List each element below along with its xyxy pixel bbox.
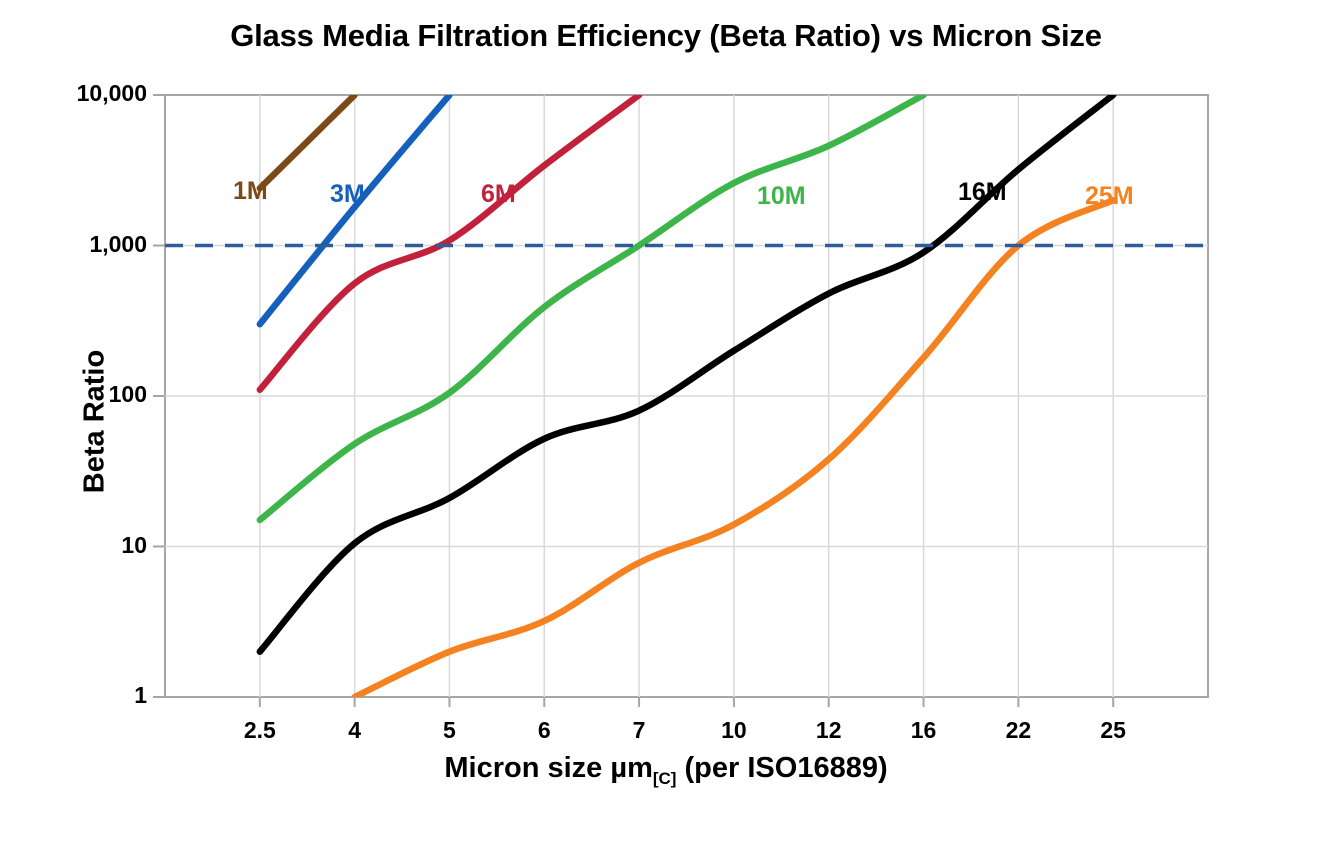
series-label-6m: 6M — [481, 180, 516, 209]
y-axis-ticks — [153, 95, 165, 697]
y-tick-label: 1 — [27, 682, 147, 709]
x-axis-ticks — [260, 697, 1113, 707]
x-axis-title-subscript: [C] — [653, 769, 677, 788]
y-tick-label: 1,000 — [27, 231, 147, 258]
series-label-25m: 25M — [1085, 182, 1134, 211]
x-tick-label: 2.5 — [215, 717, 305, 744]
series-label-10m: 10M — [757, 182, 806, 211]
x-tick-label: 12 — [784, 717, 874, 744]
x-axis-title: Micron size µm[C] (per ISO16889) — [0, 752, 1332, 789]
x-axis-title-tail: (per ISO16889) — [676, 752, 887, 784]
x-tick-label: 4 — [310, 717, 400, 744]
x-tick-label: 5 — [404, 717, 494, 744]
x-tick-label: 16 — [879, 717, 969, 744]
x-tick-label: 7 — [594, 717, 684, 744]
series-label-3m: 3M — [330, 180, 365, 209]
x-tick-label: 22 — [973, 717, 1063, 744]
y-axis-title-text: Beta Ratio — [79, 350, 111, 493]
x-tick-label: 6 — [499, 717, 589, 744]
x-tick-label: 25 — [1068, 717, 1158, 744]
y-tick-label: 10,000 — [27, 80, 147, 107]
series-label-16m: 16M — [958, 178, 1007, 207]
x-axis-title-main: Micron size µm — [444, 752, 652, 784]
series-label-1m: 1M — [233, 177, 268, 206]
y-axis-title: Beta Ratio — [79, 292, 112, 552]
x-tick-label: 10 — [689, 717, 779, 744]
plot-area — [0, 0, 1332, 842]
chart-root: Glass Media Filtration Efficiency (Beta … — [0, 0, 1332, 842]
